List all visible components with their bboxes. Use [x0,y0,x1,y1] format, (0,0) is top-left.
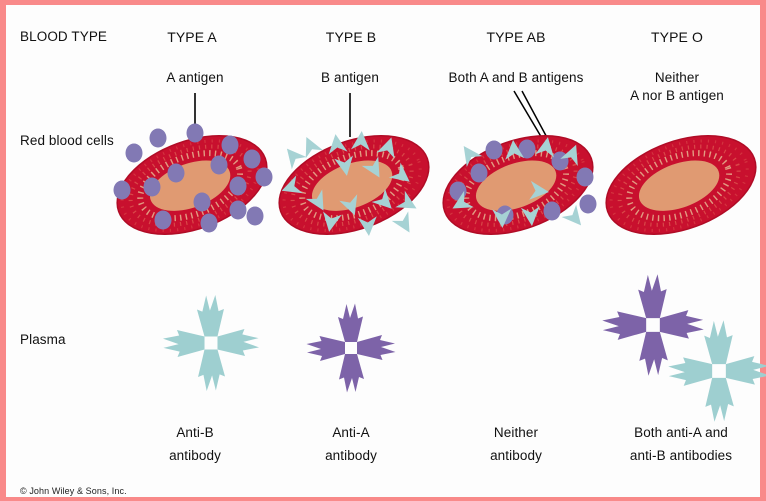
red-blood-cell-type-a [104,117,281,253]
anti-b-antibody-type-a [163,295,259,391]
red-blood-cell-type-ab [430,117,607,253]
blood-type-figure: BLOOD TYPE Red blood cells Plasma TYPE A… [0,0,766,501]
red-blood-cell-type-b [266,117,443,253]
diagram-stage: BLOOD TYPE Red blood cells Plasma TYPE A… [6,5,760,497]
diagram-artwork [6,5,760,497]
anti-a-antibody-type-b [307,304,396,393]
red-blood-cell-type-o [593,117,766,253]
